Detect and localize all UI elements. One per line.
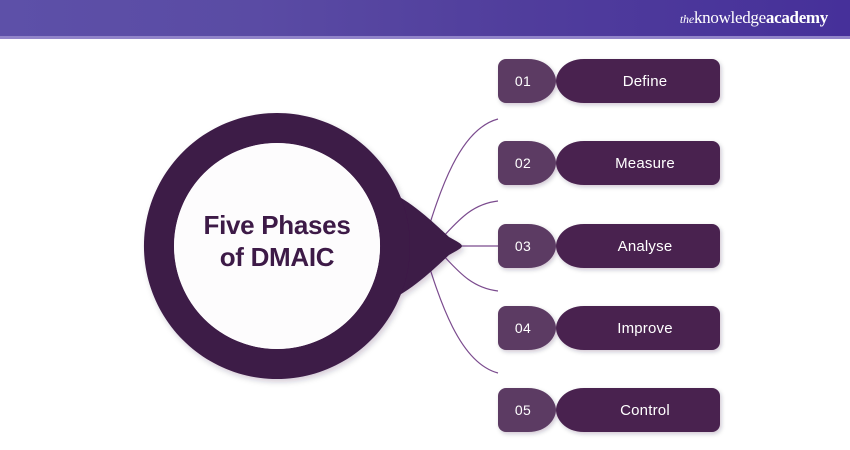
- hub-title: Five Phases of DMAIC: [170, 209, 384, 273]
- phase-row-2[interactable]: 02 Measure: [498, 141, 720, 185]
- phase-label-3: Analyse: [556, 224, 720, 268]
- phase-row-1[interactable]: 01 Define: [498, 59, 720, 103]
- brand-logo-knowledge: knowledge: [694, 8, 766, 27]
- phase-number-5: 05: [498, 388, 556, 432]
- infographic-canvas: theknowledgeacademy: [0, 0, 850, 450]
- phase-label-5: Control: [556, 388, 720, 432]
- phase-number-2: 02: [498, 141, 556, 185]
- phase-row-4[interactable]: 04 Improve: [498, 306, 720, 350]
- diagram-graphics: [0, 39, 850, 450]
- header-bar: theknowledgeacademy: [0, 0, 850, 36]
- brand-logo-the: the: [680, 12, 694, 26]
- phase-label-4: Improve: [556, 306, 720, 350]
- phase-number-1: 01: [498, 59, 556, 103]
- phase-row-3[interactable]: 03 Analyse: [498, 224, 720, 268]
- phase-label-1: Define: [556, 59, 720, 103]
- brand-logo-academy: academy: [766, 8, 828, 27]
- phase-label-2: Measure: [556, 141, 720, 185]
- dmaic-diagram: Five Phases of DMAIC 01 Define 02 Measur…: [0, 39, 850, 450]
- hub-title-line-1: Five Phases: [170, 209, 384, 241]
- phase-number-3: 03: [498, 224, 556, 268]
- brand-logo: theknowledgeacademy: [680, 9, 828, 27]
- hub-title-line-2: of DMAIC: [170, 241, 384, 273]
- phase-row-5[interactable]: 05 Control: [498, 388, 720, 432]
- phase-number-4: 04: [498, 306, 556, 350]
